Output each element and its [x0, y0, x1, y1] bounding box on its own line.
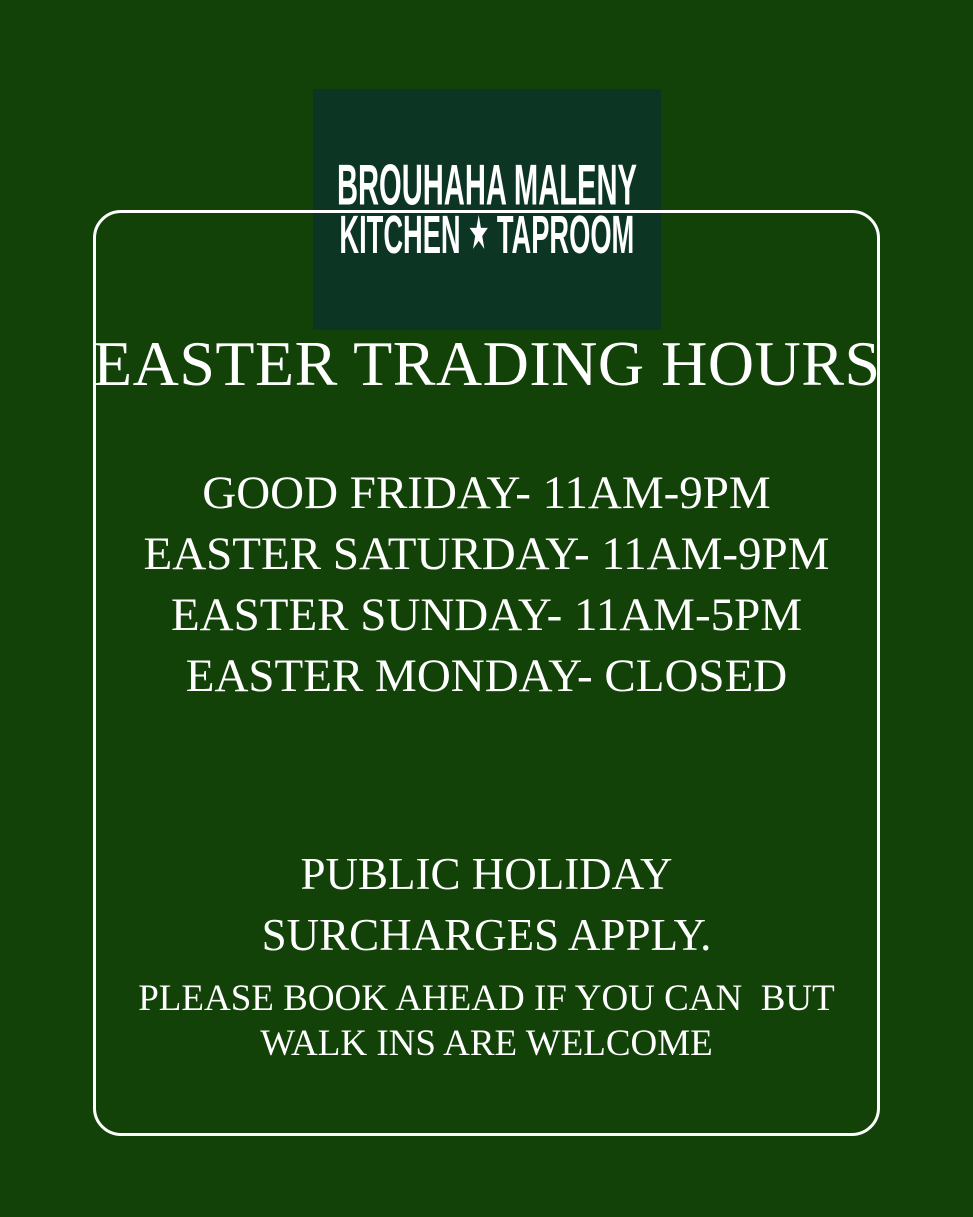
- easter-trading-hours-poster: BROUHAHA MALENY KITCHEN ★ TAPROOM EASTER…: [0, 0, 973, 1217]
- surcharge-note: PUBLIC HOLIDAY SURCHARGES APPLY.: [93, 844, 880, 966]
- trading-hours-list: GOOD FRIDAY- 11AM-9PM EASTER SATURDAY- 1…: [93, 463, 880, 707]
- list-item: EASTER SUNDAY- 11AM-5PM: [93, 585, 880, 646]
- notice-block: PUBLIC HOLIDAY SURCHARGES APPLY. PLEASE …: [93, 844, 880, 1066]
- booking-note: PLEASE BOOK AHEAD IF YOU CAN BUT WALK IN…: [93, 976, 880, 1066]
- list-item: EASTER SATURDAY- 11AM-9PM: [93, 524, 880, 585]
- poster-content: EASTER TRADING HOURS GOOD FRIDAY- 11AM-9…: [93, 210, 880, 1136]
- page-title: EASTER TRADING HOURS: [93, 332, 880, 396]
- list-item: GOOD FRIDAY- 11AM-9PM: [93, 463, 880, 524]
- list-item: EASTER MONDAY- CLOSED: [93, 646, 880, 707]
